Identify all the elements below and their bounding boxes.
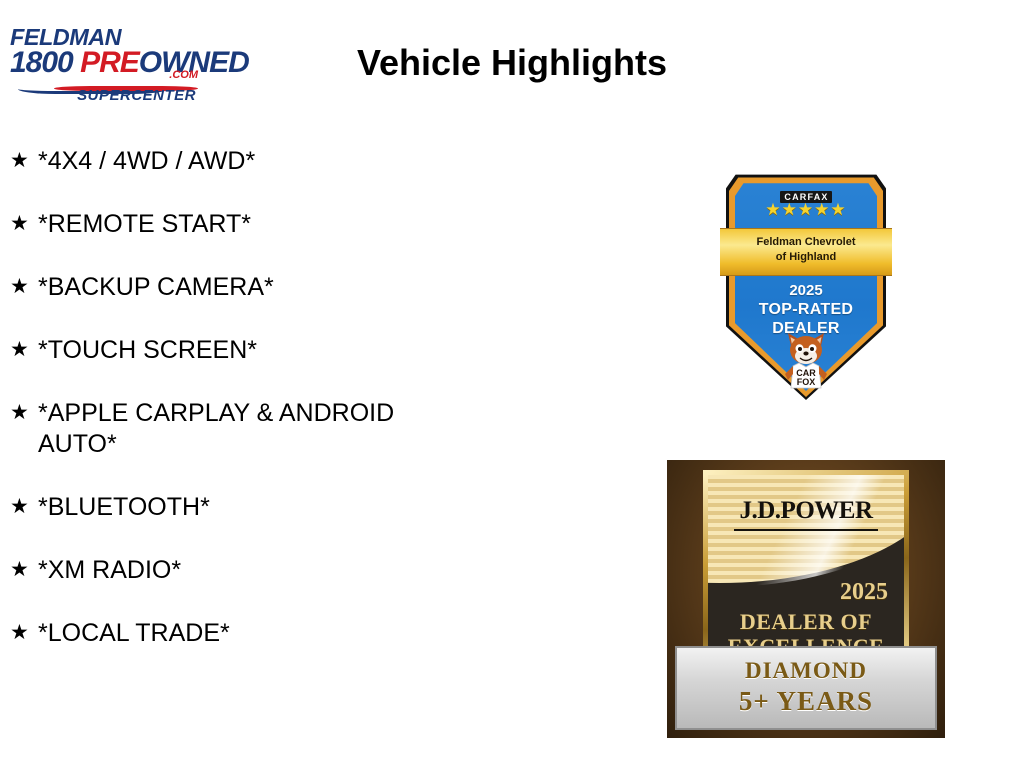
highlight-label: *REMOTE START* <box>38 209 251 240</box>
award-plaque: J.D.POWER 2025 DEALER OF EXCELLENCE <box>703 470 909 666</box>
page-title: Vehicle Highlights <box>0 42 1024 84</box>
list-item: ★ *BLUETOOTH* <box>10 492 510 523</box>
five-stars-icon: ★★★★★ <box>726 201 886 219</box>
dealer-name-line2: of Highland <box>720 250 892 265</box>
award-base: DIAMOND 5+ YEARS <box>675 646 937 730</box>
car-fox-mascot-icon: CAR FOX <box>779 330 833 396</box>
star-icon: ★ <box>10 555 38 585</box>
list-item: ★ *TOUCH SCREEN* <box>10 335 510 366</box>
highlight-label: *TOUCH SCREEN* <box>38 335 257 366</box>
list-item: ★ *BACKUP CAMERA* <box>10 272 510 303</box>
badge-ribbon: Feldman Chevrolet of Highland <box>720 228 892 276</box>
plaque-dome-shine <box>708 475 904 587</box>
ribbon-text: Feldman Chevrolet of Highland <box>720 235 892 265</box>
list-item: ★ *APPLE CARPLAY & ANDROID AUTO* <box>10 398 510 460</box>
award-duration: 5+ YEARS <box>677 686 935 716</box>
star-icon: ★ <box>10 335 38 365</box>
list-item: ★ *LOCAL TRADE* <box>10 618 510 649</box>
jdpower-dealer-of-excellence-award: J.D.POWER 2025 DEALER OF EXCELLENCE DIAM… <box>667 460 945 738</box>
jdpower-underline <box>734 529 878 531</box>
highlight-label: *XM RADIO* <box>38 555 181 586</box>
carfax-top-rated-dealer-badge: CARFAX ★★★★★ Feldman Chevrolet of Highla… <box>726 170 886 400</box>
star-icon: ★ <box>10 146 38 176</box>
award-title-line1: DEALER OF <box>708 609 904 634</box>
star-icon: ★ <box>10 209 38 239</box>
badge-award-line1: TOP-RATED <box>726 300 886 319</box>
highlight-label: *APPLE CARPLAY & ANDROID AUTO* <box>38 398 394 460</box>
vehicle-highlights-list: ★ *4X4 / 4WD / AWD* ★ *REMOTE START* ★ *… <box>10 146 510 681</box>
list-item: ★ *REMOTE START* <box>10 209 510 240</box>
star-icon: ★ <box>10 398 38 428</box>
list-item: ★ *4X4 / 4WD / AWD* <box>10 146 510 177</box>
highlight-label: *BACKUP CAMERA* <box>38 272 274 303</box>
svg-text:FOX: FOX <box>797 377 816 387</box>
star-icon: ★ <box>10 272 38 302</box>
dealer-name-line1: Feldman Chevrolet <box>720 235 892 250</box>
badge-year: 2025 <box>726 282 886 300</box>
award-year: 2025 <box>840 579 888 606</box>
star-icon: ★ <box>10 618 38 648</box>
highlight-label: *LOCAL TRADE* <box>38 618 230 649</box>
list-item: ★ *XM RADIO* <box>10 555 510 586</box>
highlight-label: *4X4 / 4WD / AWD* <box>38 146 255 177</box>
star-icon: ★ <box>10 492 38 522</box>
logo-supercenter-text: SUPERCENTER <box>77 88 196 103</box>
award-tier: DIAMOND <box>677 656 935 686</box>
jdpower-wordmark: J.D.POWER <box>708 497 904 525</box>
award-base-text: DIAMOND 5+ YEARS <box>677 656 935 716</box>
highlight-label: *BLUETOOTH* <box>38 492 210 523</box>
